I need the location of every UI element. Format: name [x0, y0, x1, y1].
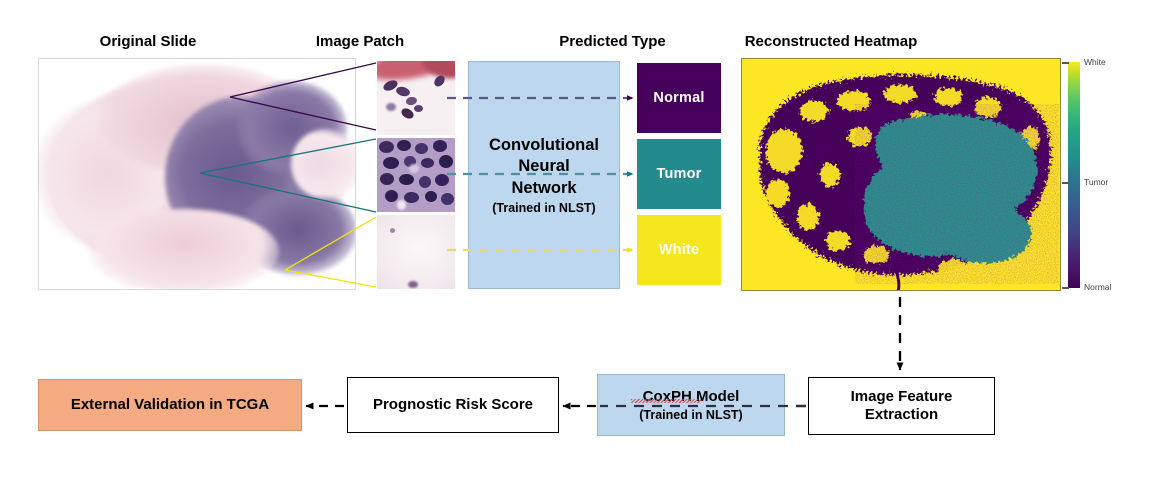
heatmap-svg	[742, 59, 1061, 291]
class-label-white: White	[659, 242, 699, 258]
image-feature-extraction-box: Image Feature Extraction	[808, 377, 995, 435]
class-box-normal: Normal	[637, 63, 721, 133]
header-predicted-type: Predicted Type	[555, 33, 670, 50]
colorbar-tick-white	[1062, 62, 1069, 64]
feature-extraction-line2: Extraction	[851, 406, 953, 424]
cnn-label-line3: Network	[489, 178, 599, 199]
class-box-tumor: Tumor	[637, 139, 721, 209]
colorbar-tick-normal	[1062, 287, 1069, 289]
class-label-tumor: Tumor	[656, 166, 701, 182]
colorbar-label-normal: Normal	[1084, 282, 1111, 292]
feature-extraction-line1: Image Feature	[851, 388, 953, 406]
coxph-model-subtitle: (Trained in NLST)	[639, 408, 742, 422]
external-validation-box: External Validation in TCGA	[38, 379, 302, 431]
header-original-slide: Original Slide	[88, 33, 208, 50]
spellcheck-underline	[631, 399, 701, 403]
class-box-white: White	[637, 215, 721, 285]
prognostic-risk-score-label: Prognostic Risk Score	[373, 396, 533, 414]
header-reconstructed-heatmap: Reconstructed Heatmap	[725, 33, 937, 50]
image-patch-tumor	[377, 138, 455, 212]
class-label-normal: Normal	[653, 90, 704, 106]
header-image-patch: Image Patch	[305, 33, 415, 50]
coxph-model-box: CoxPH Model (Trained in NLST)	[597, 374, 785, 436]
cnn-subtitle: (Trained in NLST)	[492, 201, 595, 215]
heatmap-colorbar	[1068, 62, 1080, 288]
reconstructed-heatmap-image	[741, 58, 1061, 291]
prognostic-risk-score-box: Prognostic Risk Score	[347, 377, 559, 433]
colorbar-tick-tumor	[1062, 182, 1069, 184]
cnn-label-line1: Convolutional	[489, 135, 599, 156]
coxph-model-title: CoxPH Model	[643, 388, 740, 406]
cnn-label-line2: Neural	[489, 156, 599, 177]
cnn-box: Convolutional Neural Network (Trained in…	[468, 61, 620, 289]
diagram-canvas: Original Slide Image Patch Predicted Typ…	[0, 0, 1158, 492]
image-patch-normal	[377, 61, 455, 135]
original-slide-image	[38, 58, 356, 290]
colorbar-label-tumor: Tumor	[1084, 177, 1108, 187]
external-validation-label: External Validation in TCGA	[71, 396, 269, 414]
colorbar-label-white: White	[1084, 57, 1106, 67]
image-patch-white	[377, 215, 455, 289]
